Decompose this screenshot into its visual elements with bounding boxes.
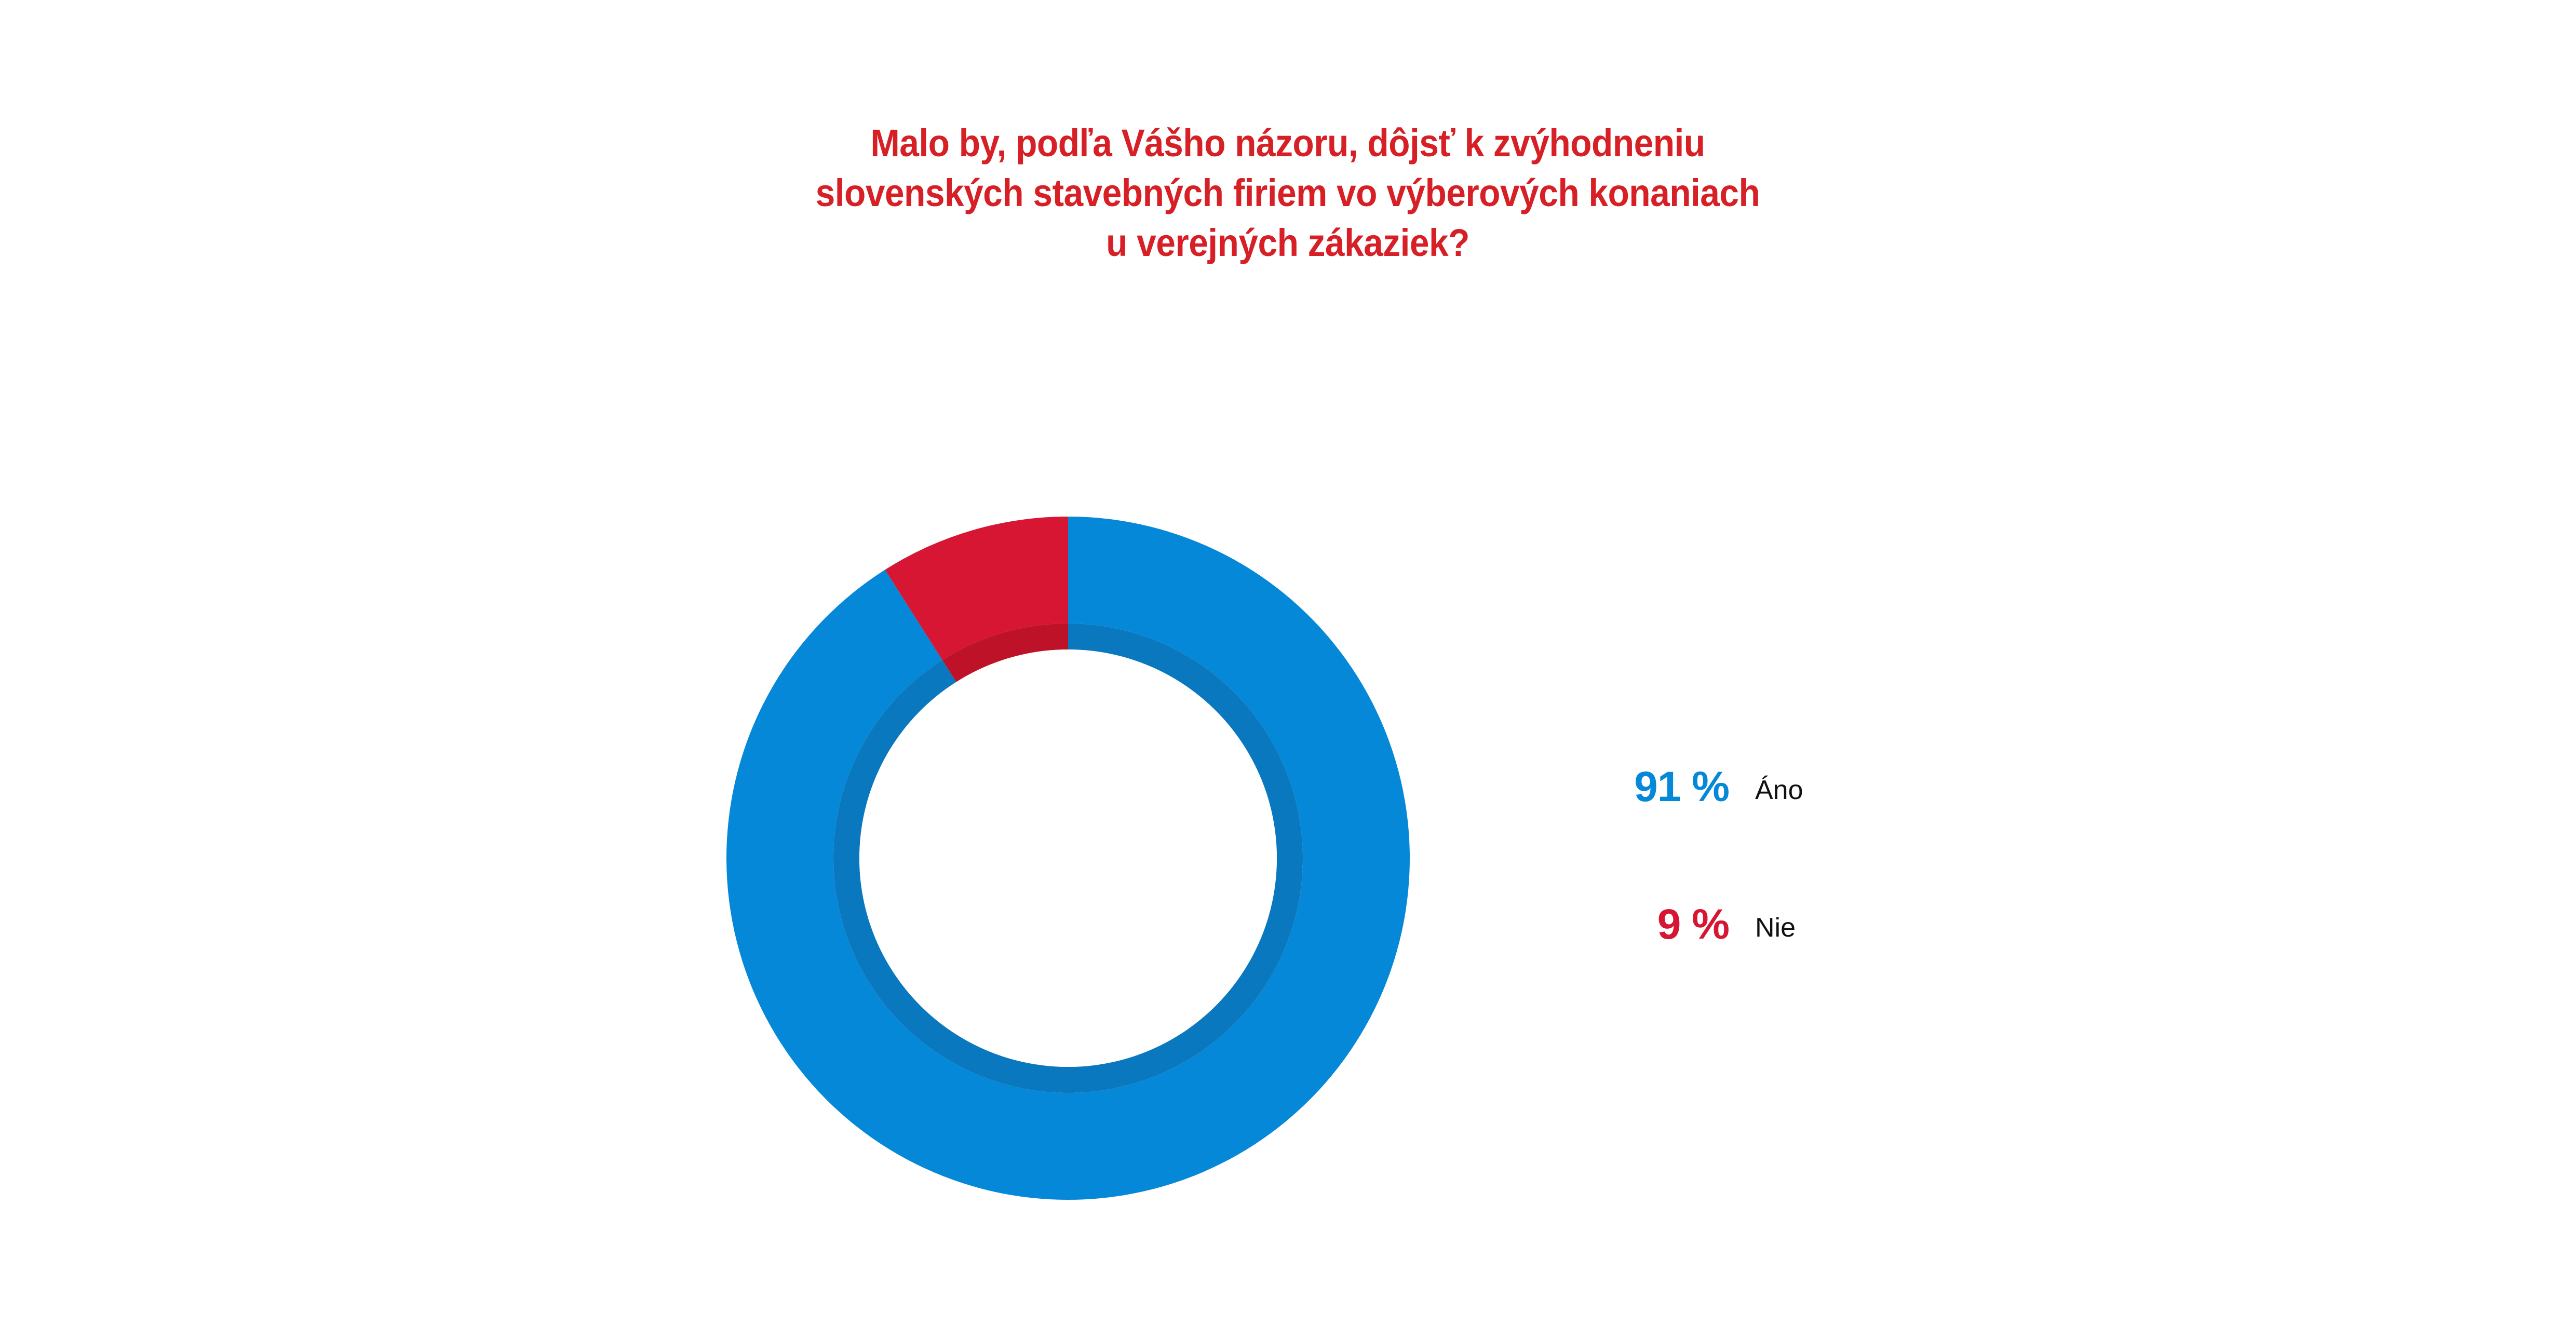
chart-figure: Malo by, podľa Vášho názoru, dôjsť k zvý… (0, 0, 2576, 1327)
donut-chart (726, 517, 1410, 1200)
donut-chart-svg (726, 517, 1410, 1200)
legend-label-ano: Áno (1755, 775, 1803, 806)
legend-value-nie: 9 % (1657, 901, 1729, 949)
legend-item-ano[interactable]: 91 % Áno (1584, 763, 2051, 831)
legend-item-nie[interactable]: 9 % Nie (1584, 901, 2051, 968)
donut-hole (859, 649, 1277, 1067)
page-title: Malo by, podľa Vášho názoru, dôjsť k zvý… (375, 118, 2200, 268)
chart-legend: 91 % Áno 9 % Nie (1584, 763, 2051, 968)
legend-label-nie: Nie (1755, 912, 1796, 943)
legend-value-ano: 91 % (1634, 763, 1729, 811)
